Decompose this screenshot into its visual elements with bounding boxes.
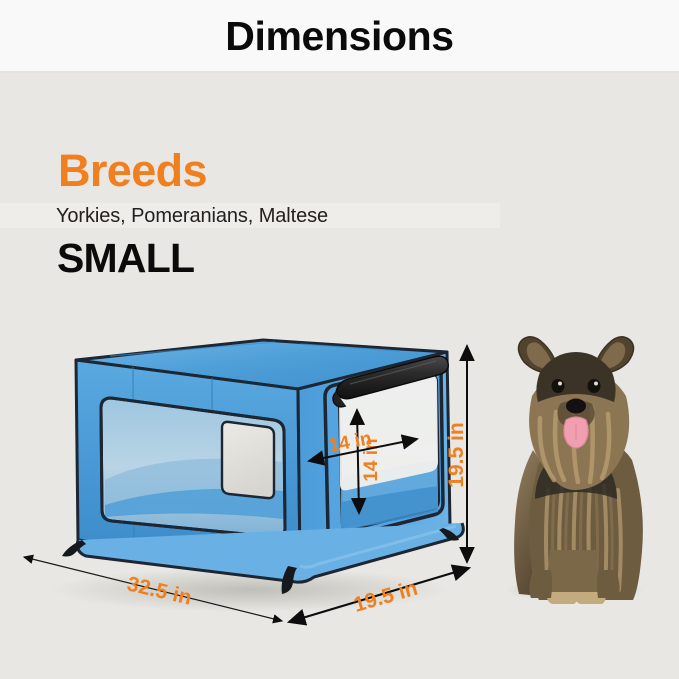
breeds-heading: Breeds (58, 148, 207, 193)
size-label: SMALL (57, 238, 194, 279)
pet-crate (62, 340, 463, 594)
dog-leg-right (572, 550, 599, 598)
dog-haunch-right (597, 570, 620, 598)
dog-haunch-left (529, 570, 552, 598)
crate-mesh-window (222, 422, 274, 498)
dog-eye-right (588, 379, 601, 393)
header-bar: Dimensions (0, 0, 679, 72)
dog-leg-left (548, 550, 577, 598)
product-scene: 19.5 in 32.5 in 19.5 in 14 in 14 in (0, 300, 679, 679)
infographic-page: Dimensions Breeds Yorkies, Pomeranians, … (0, 0, 679, 679)
dog-paw-left (547, 592, 578, 604)
yorkshire-terrier (505, 337, 645, 604)
header-divider (0, 71, 679, 73)
page-title: Dimensions (225, 16, 453, 57)
dog-eye-left (552, 379, 565, 393)
dog-nose (566, 399, 586, 414)
breeds-list: Yorkies, Pomeranians, Maltese (56, 206, 328, 226)
height-label: 19.5 in (445, 422, 468, 487)
